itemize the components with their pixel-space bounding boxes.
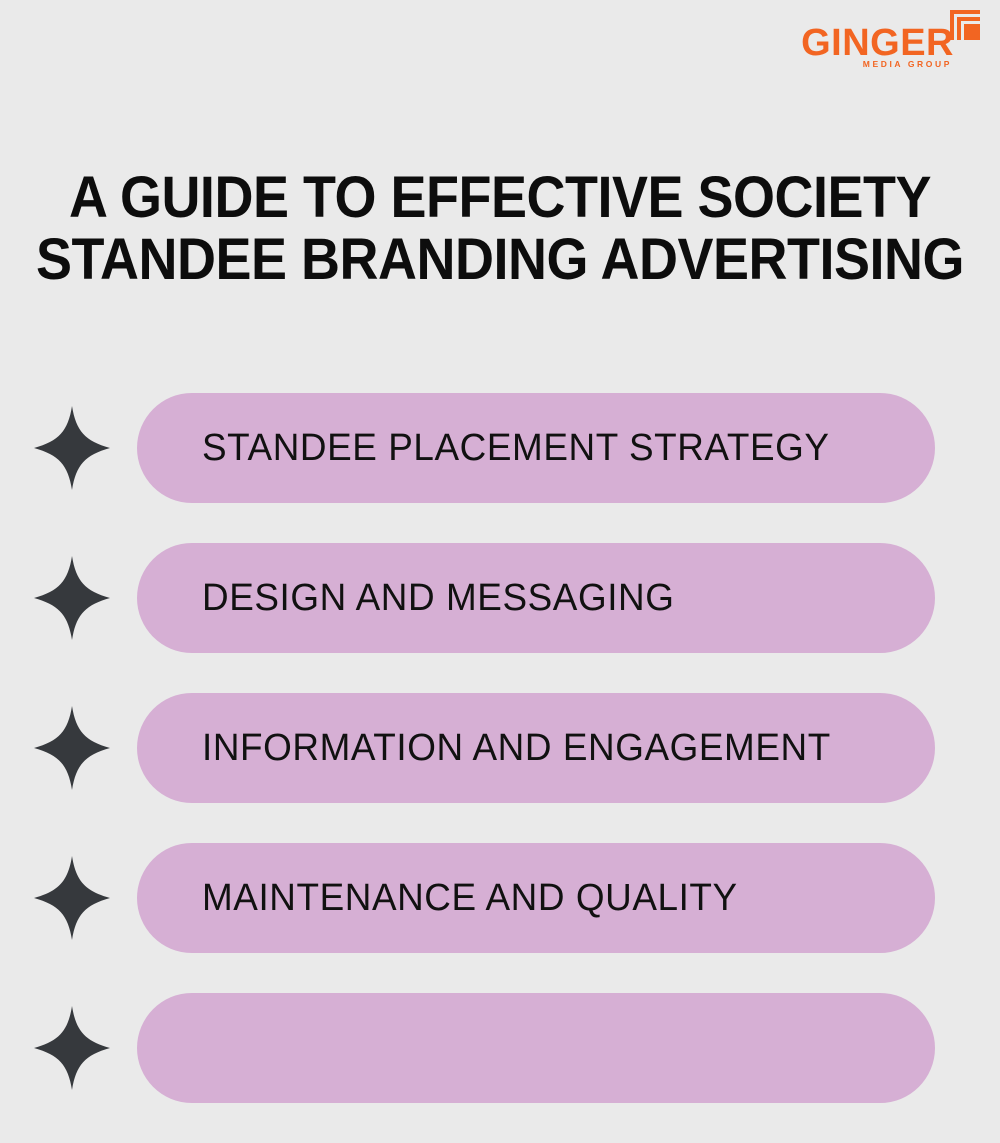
list-item[interactable]: INFORMATION AND ENGAGEMENT xyxy=(0,693,1000,803)
four-pointed-star-icon xyxy=(33,555,111,641)
list-item[interactable]: DESIGN AND MESSAGING xyxy=(0,543,1000,653)
brand-wordmark: GINGER xyxy=(801,24,954,62)
four-pointed-star-icon xyxy=(33,1005,111,1091)
list-item-pill[interactable]: DESIGN AND MESSAGING xyxy=(137,543,935,653)
list-item[interactable]: MAINTENANCE AND QUALITY xyxy=(0,843,1000,953)
page-title-line-2: STANDEE BRANDING ADVERTISING xyxy=(35,229,965,292)
list-item-label: MAINTENANCE AND QUALITY xyxy=(202,879,738,917)
list-item-pill[interactable] xyxy=(137,993,935,1103)
list-item-pill[interactable]: INFORMATION AND ENGAGEMENT xyxy=(137,693,935,803)
list-item-label: DESIGN AND MESSAGING xyxy=(202,579,674,617)
guide-points-list: STANDEE PLACEMENT STRATEGY DESIGN AND ME… xyxy=(0,393,1000,1143)
list-item[interactable] xyxy=(0,993,1000,1103)
brand-tagline: MEDIA GROUP xyxy=(863,60,952,69)
list-item-pill[interactable]: MAINTENANCE AND QUALITY xyxy=(137,843,935,953)
list-item-pill[interactable]: STANDEE PLACEMENT STRATEGY xyxy=(137,393,935,503)
list-item-label: STANDEE PLACEMENT STRATEGY xyxy=(202,429,830,467)
page-title: A GUIDE TO EFFECTIVE SOCIETY STANDEE BRA… xyxy=(35,167,965,292)
four-pointed-star-icon xyxy=(33,705,111,791)
four-pointed-star-icon xyxy=(33,405,111,491)
page-title-line-1: A GUIDE TO EFFECTIVE SOCIETY xyxy=(35,167,965,230)
brand-logo: GINGER MEDIA GROUP xyxy=(812,8,982,74)
list-item-label: INFORMATION AND ENGAGEMENT xyxy=(202,729,831,767)
four-pointed-star-icon xyxy=(33,855,111,941)
list-item[interactable]: STANDEE PLACEMENT STRATEGY xyxy=(0,393,1000,503)
